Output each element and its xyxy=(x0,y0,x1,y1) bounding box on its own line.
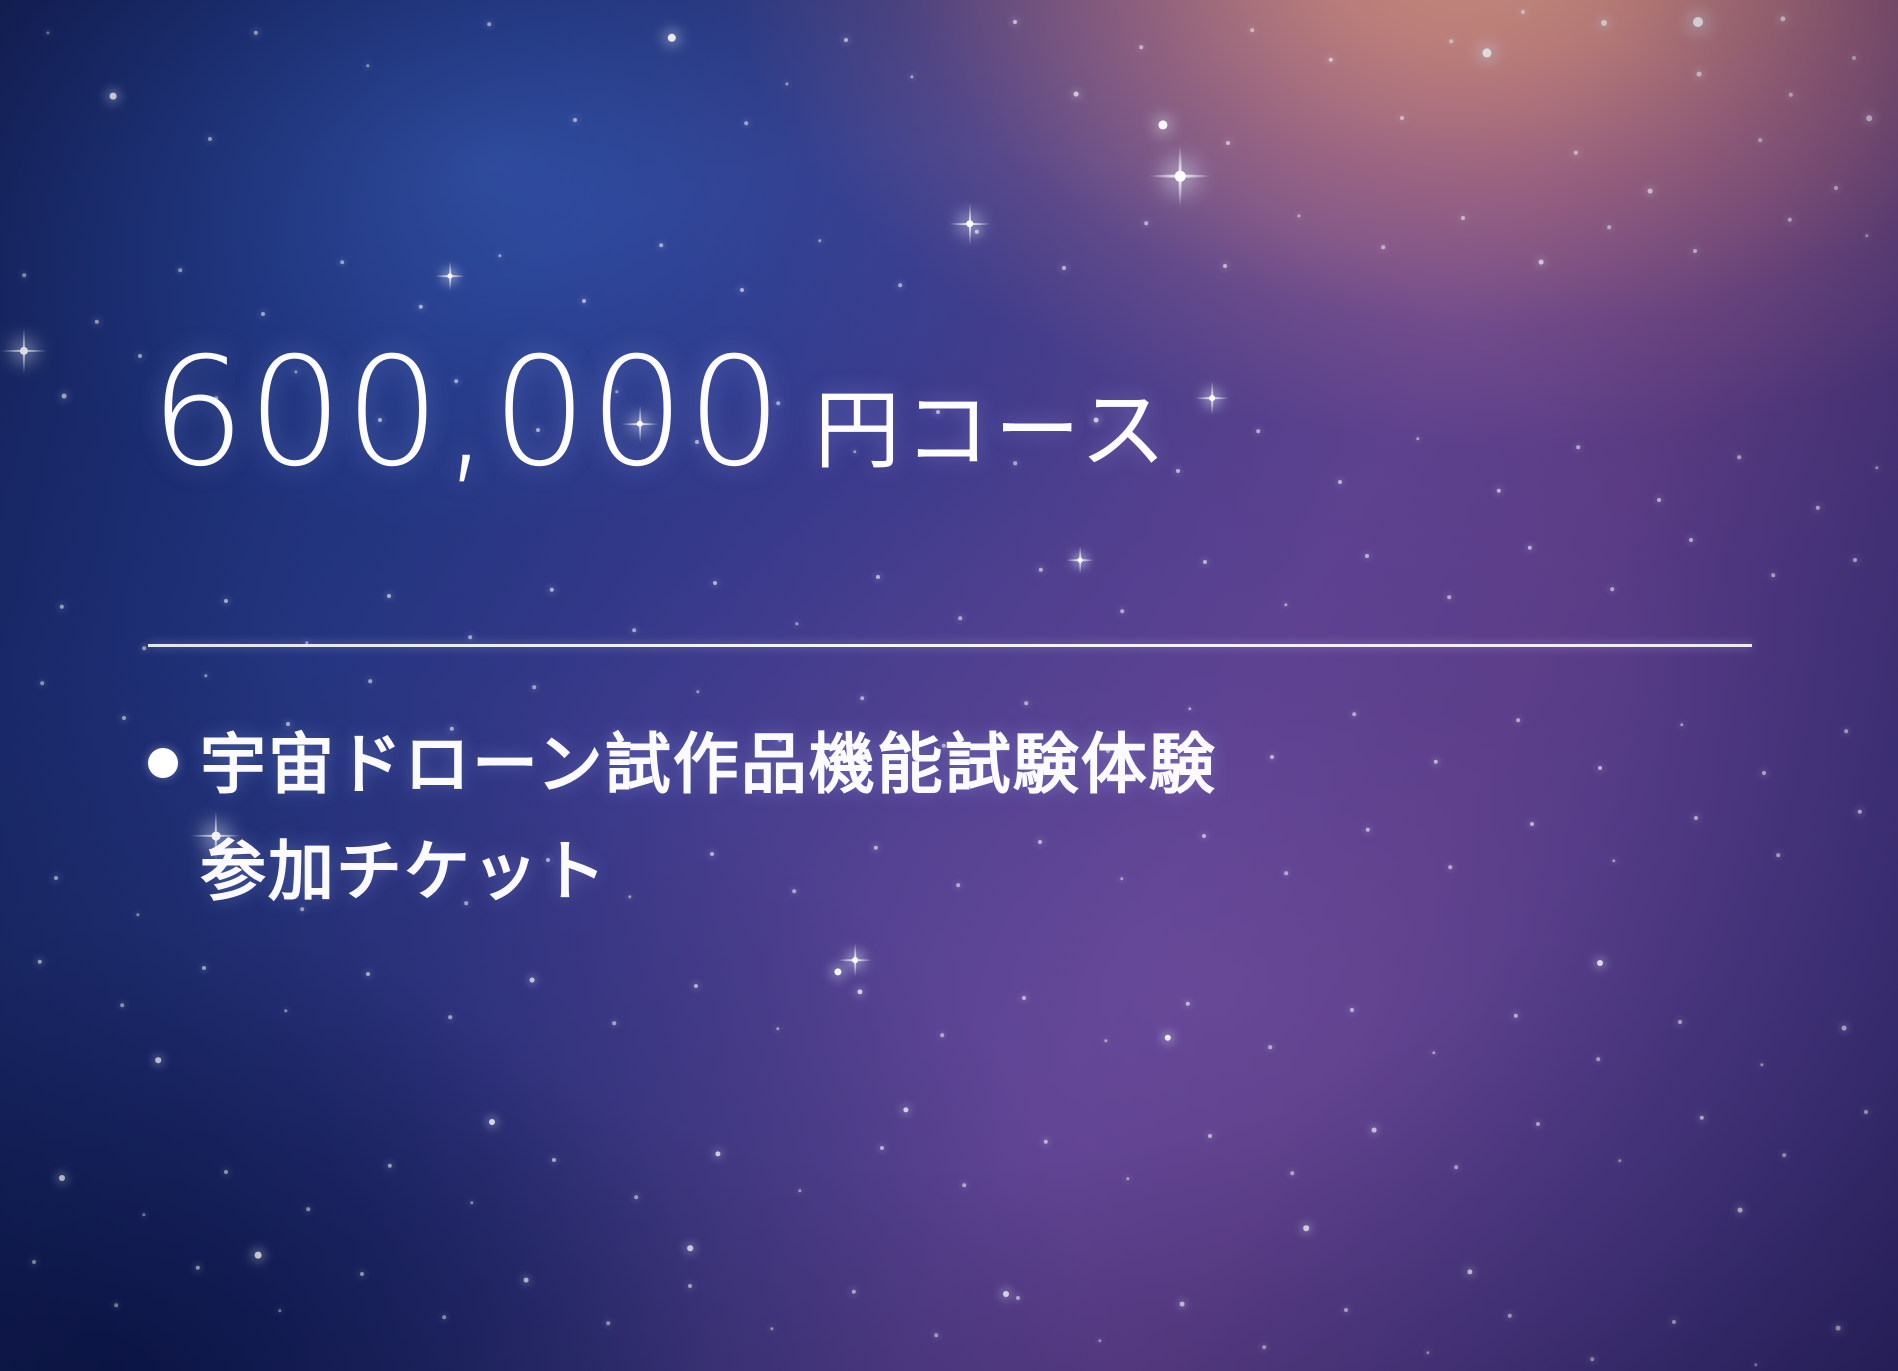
price-unit-label: 円コース xyxy=(814,388,1170,488)
bullet-dot-icon xyxy=(148,748,178,778)
horizontal-rule xyxy=(148,644,1752,647)
benefits-list: 宇宙ドローン試作品機能試験体験 参加チケット xyxy=(148,712,1788,926)
promo-card: 600,000 円コース 宇宙ドローン試作品機能試験体験 参加チケット xyxy=(0,0,1898,1371)
price-amount: 600,000 xyxy=(150,338,784,488)
list-item: 宇宙ドローン試作品機能試験体験 参加チケット xyxy=(148,712,1788,926)
list-item-label: 宇宙ドローン試作品機能試験体験 参加チケット xyxy=(200,712,1217,926)
list-item-line-2: 参加チケット xyxy=(200,833,608,910)
page-title: 600,000 円コース xyxy=(150,338,1170,488)
card-content: 600,000 円コース 宇宙ドローン試作品機能試験体験 参加チケット xyxy=(0,0,1898,1371)
list-item-line-1: 宇宙ドローン試作品機能試験体験 xyxy=(200,726,1217,803)
